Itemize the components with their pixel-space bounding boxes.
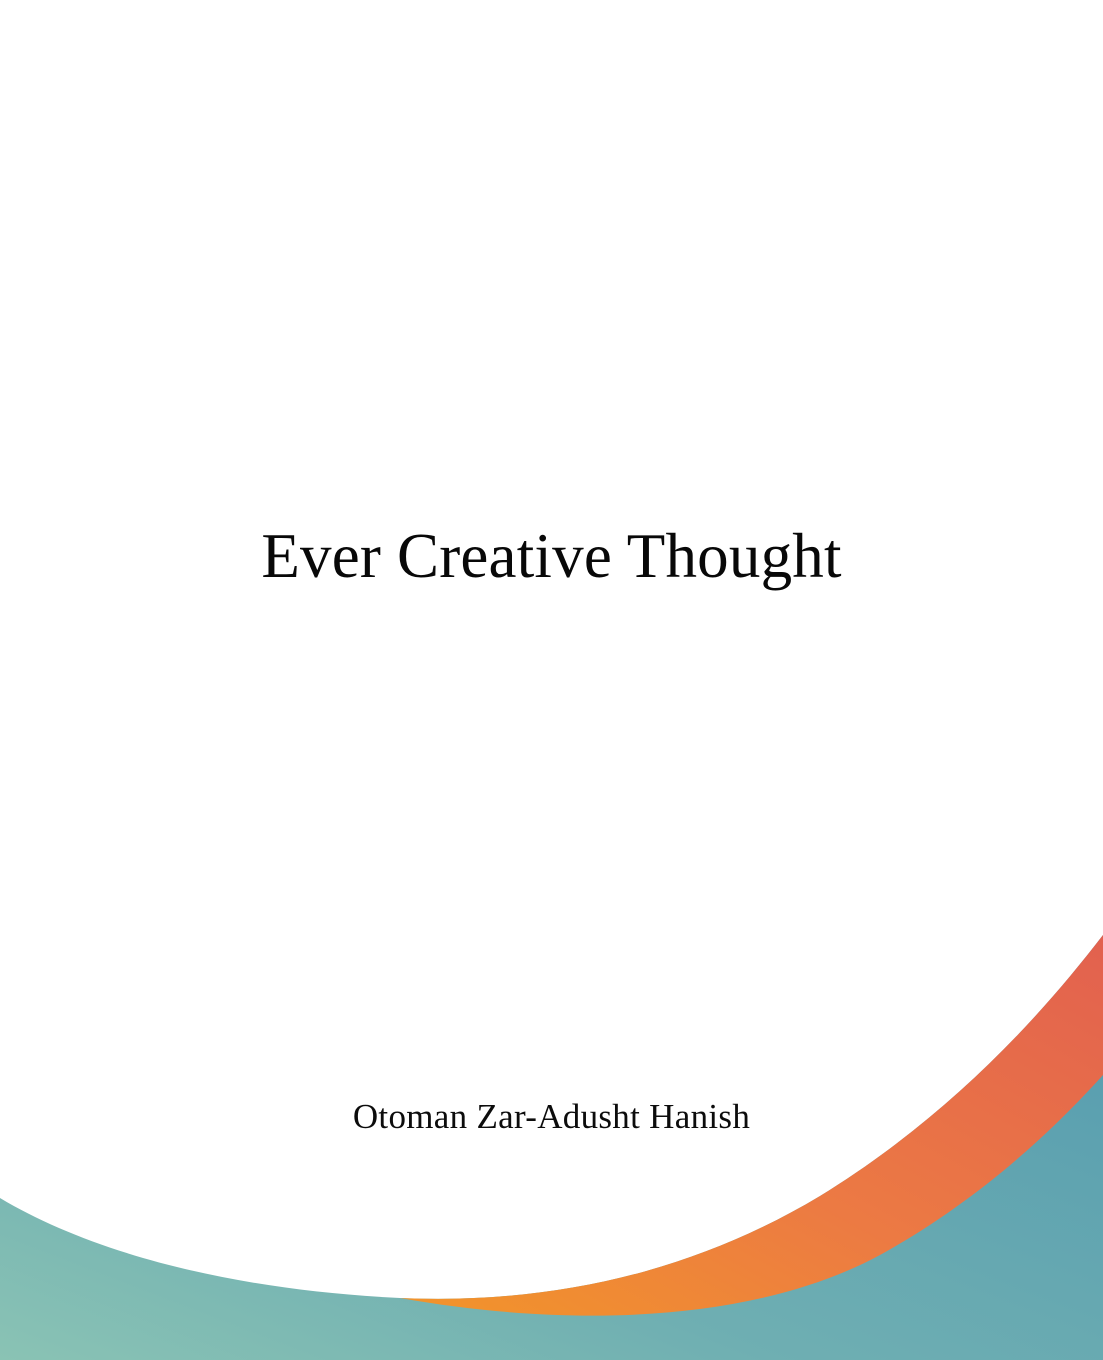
shape-navy-arc: [296, 346, 1103, 905]
shape-bottom-white-mask: [0, 0, 1103, 1276]
shape-white-arc-mask: [80, 830, 1103, 1000]
shape-coral-lower: [0, 420, 330, 940]
shape-pink-swoosh: [645, 268, 1103, 540]
book-cover: –KESSINGER’S RARE REPRINTS– Ever Creativ…: [0, 0, 1103, 1360]
book-author: Otoman Zar-Adusht Hanish: [0, 1097, 1103, 1137]
imprint-banner-text: –KESSINGER’S RARE REPRINTS–: [0, 70, 1103, 99]
shape-teal-wedge: [0, 0, 560, 300]
shape-steel-sliver: [314, 415, 400, 470]
book-title: Ever Creative Thought: [0, 521, 1103, 592]
shape-white-body: [0, 831, 1103, 1360]
bottom-artwork: [0, 0, 1103, 1360]
shape-cyan-field: [400, 25, 1103, 570]
top-artwork: [0, 0, 1103, 1360]
shape-grey-shadow: [0, 876, 305, 948]
shape-bottom-teal: [0, 935, 1103, 1360]
